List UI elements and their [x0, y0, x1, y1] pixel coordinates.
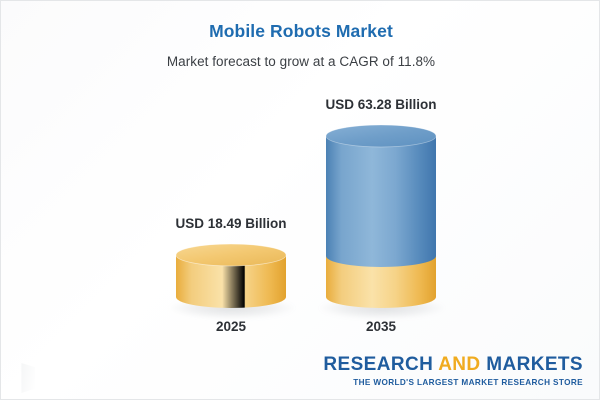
brand-logo[interactable]: RESEARCH AND MARKETS THE WORLD'S LARGEST… [323, 354, 583, 387]
logo-wordmark: RESEARCH AND MARKETS [323, 354, 583, 376]
bar-value-label-2035: USD 63.28 Billion [261, 97, 501, 112]
bar-value-label-2025: USD 18.49 Billion [111, 216, 351, 231]
logo-tagline: THE WORLD'S LARGEST MARKET RESEARCH STOR… [323, 378, 583, 387]
bar-group-2025: USD 18.49 Billion [176, 1, 286, 400]
bar-cylinder-2025[interactable] [176, 245, 286, 317]
logo-word-research: RESEARCH [323, 354, 433, 375]
chart-plot-area: USD 18.49 Billion [1, 1, 600, 400]
logo-word-markets: MARKETS [486, 354, 583, 375]
logo-word-and: AND [438, 354, 480, 375]
bar-category-label-2035: 2035 [281, 319, 481, 334]
infographic-canvas: Mobile Robots Market Market forecast to … [0, 0, 600, 400]
bar-cylinder-2035[interactable] [326, 125, 436, 317]
bar-group-2035: USD 63.28 Billion [326, 1, 436, 400]
